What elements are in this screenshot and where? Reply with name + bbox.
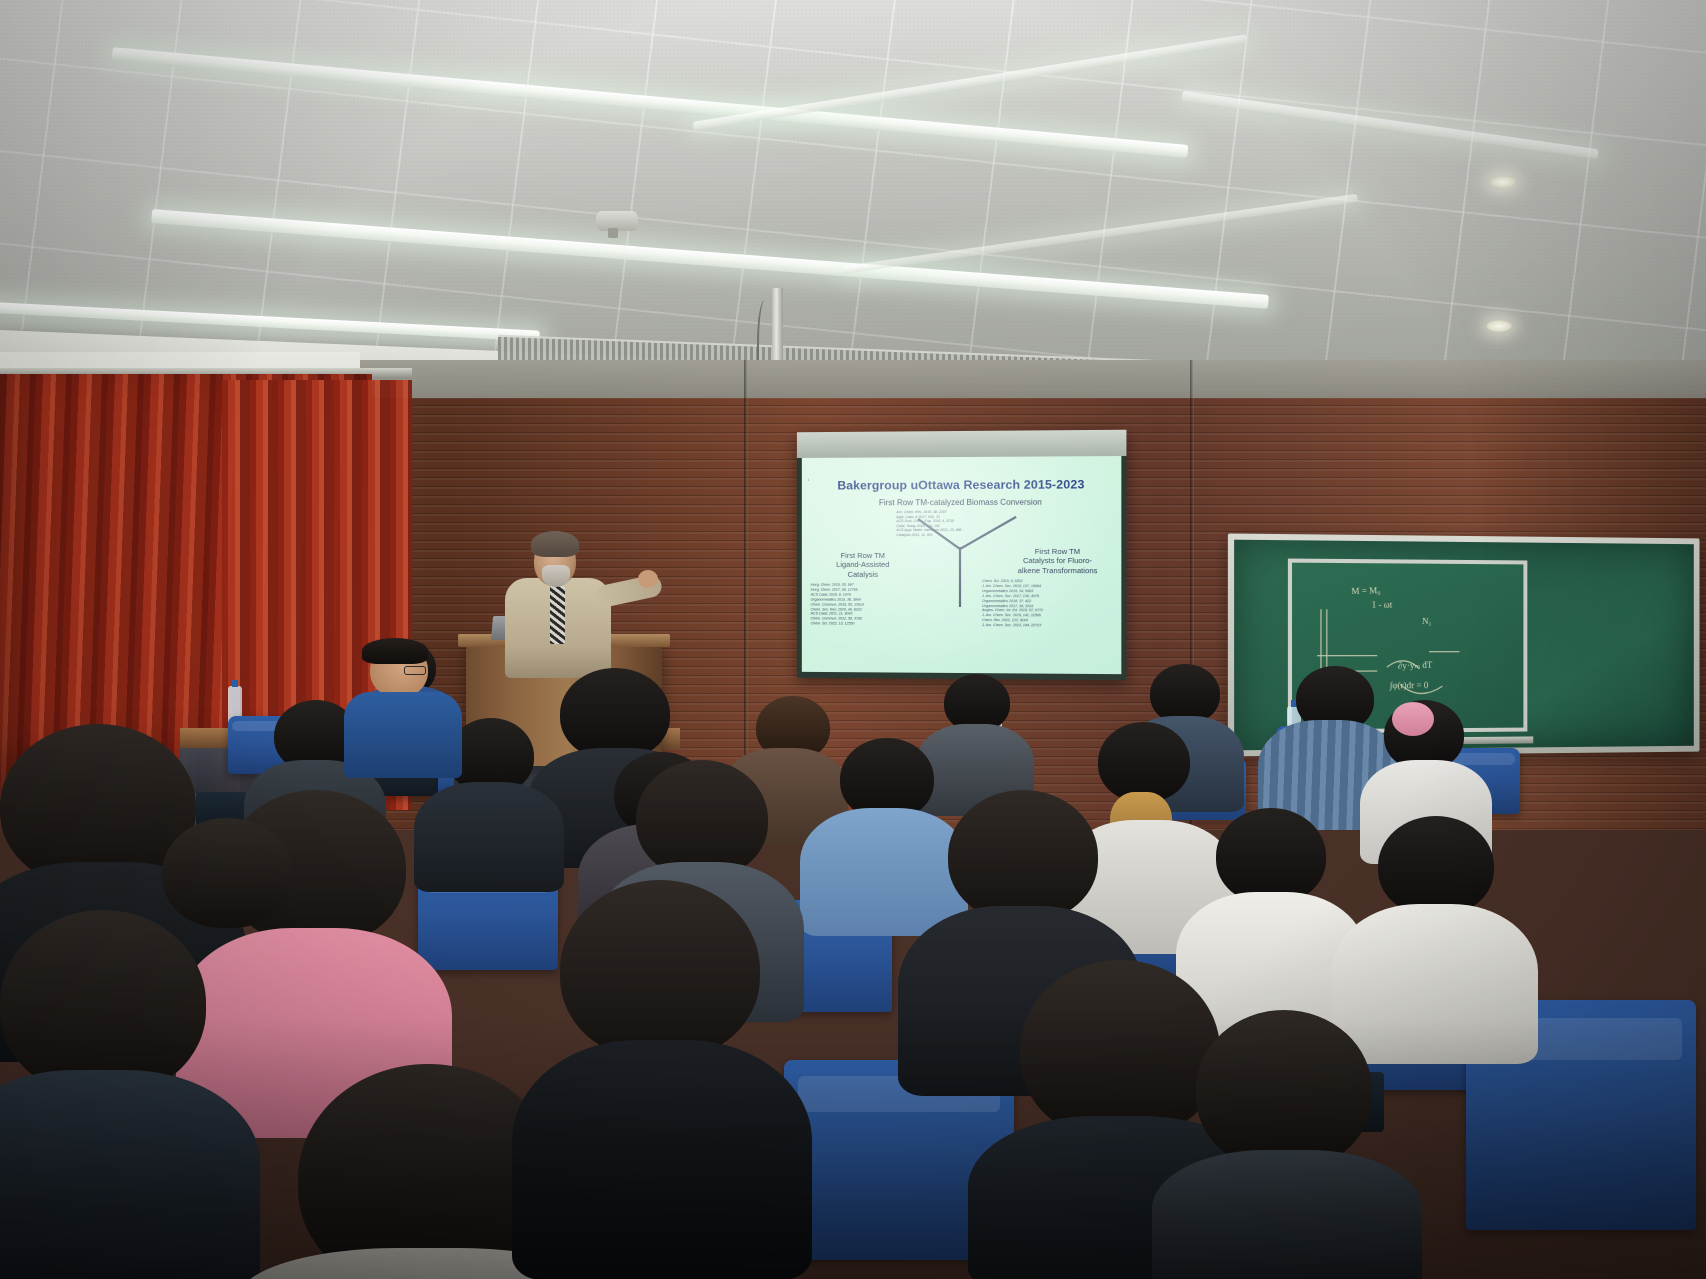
attendee-torso (414, 782, 564, 892)
smoke-detector-icon (596, 211, 638, 231)
presentation-slide: 1 Bakergroup uOttawa Research 2015-2023 … (802, 456, 1122, 674)
attendee-hair-scrunchie (1392, 702, 1434, 736)
citation-line: Catalysts 2021, 11, 901 (896, 533, 1036, 538)
attendee-head (162, 818, 292, 928)
glasses-icon (404, 666, 426, 675)
citation-line: J. Am. Chem. Soc. 2022, 144, 22713 (982, 623, 1113, 629)
attendee-head (1020, 960, 1220, 1140)
slide-left-citations: Inorg. Chem. 2016, 55, 997Inorg. Chem. 2… (811, 583, 929, 627)
slide-title: Bakergroup uOttawa Research 2015-2023 (802, 477, 1122, 492)
attendee-head (560, 668, 670, 760)
slide-left-column-heading: First Row TMLigand-AssistedCatalysis (808, 551, 918, 579)
slide-subtitle: First Row TM-catalyzed Biomass Conversio… (802, 497, 1122, 507)
citation-line: Chem. Sci. 2022, 13, 12550 (811, 622, 929, 627)
citation-line: Ligand-Assisted (808, 560, 918, 569)
lecture-hall-photo: 1 Bakergroup uOttawa Research 2015-2023 … (0, 0, 1706, 1279)
projection-screen: 1 Bakergroup uOttawa Research 2015-2023 … (797, 430, 1127, 681)
downlight (1490, 176, 1516, 188)
screen-roller-bar (797, 430, 1127, 458)
attendee-torso (1332, 904, 1538, 1064)
attendee-head (948, 790, 1098, 922)
slide-center-citations: Acc. Chem. Res. 2015, 48, 2207Appl. Cata… (896, 510, 1036, 538)
presenter-hair (531, 531, 579, 557)
attendee-head (1150, 664, 1220, 724)
attendee-torso (800, 808, 968, 936)
slide-right-column-heading: First Row TMCatalysts for Fluoro-alkene … (998, 547, 1117, 575)
citation-line: Catalysts for Fluoro- (998, 556, 1117, 566)
attendee-head (1378, 816, 1494, 916)
citation-line: alkene Transformations (998, 566, 1117, 576)
attendee-torso (1152, 1150, 1422, 1279)
attendee-torso (0, 1070, 260, 1279)
attendee-hair (362, 638, 428, 664)
citation-line: First Row TM (808, 551, 918, 560)
attendee-head (0, 910, 206, 1096)
citation-line: First Row TM (998, 547, 1117, 556)
attendee-head (1216, 808, 1326, 904)
attendee-head (1098, 722, 1190, 802)
presenter-hand (638, 570, 658, 588)
citation-line: Catalysis (808, 570, 918, 579)
attendee-head (560, 880, 760, 1060)
slide-right-citations: Chem. Sci. 2015, 6, 6302J. Am. Chem. Soc… (982, 579, 1113, 629)
attendee-head (636, 760, 768, 878)
downlight (1486, 320, 1512, 332)
attendee-head (1196, 1010, 1372, 1170)
presenter-beard (542, 565, 570, 587)
presenter-tie (550, 586, 565, 644)
attendee-shirt (344, 692, 462, 778)
attendee-torso (512, 1040, 812, 1279)
